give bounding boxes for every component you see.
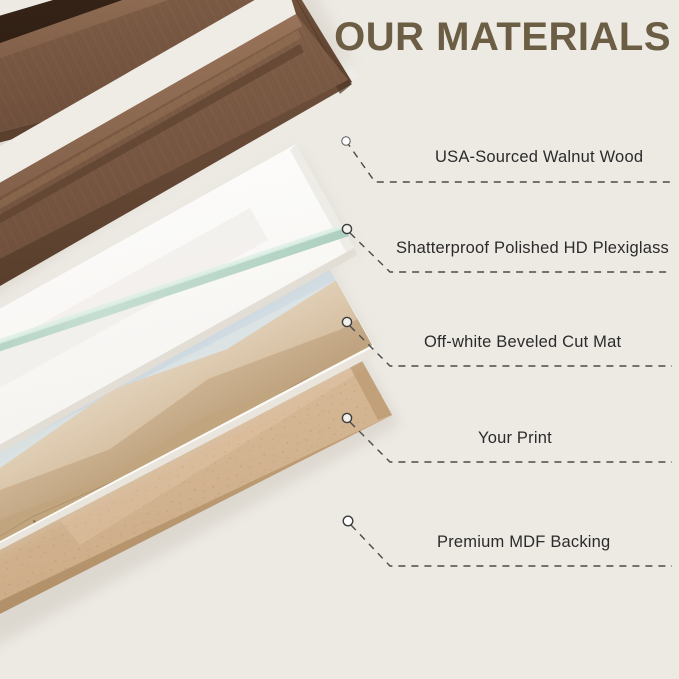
callout-marker-2[interactable] [342, 224, 351, 233]
callout-label-5: Premium MDF Backing [437, 533, 610, 552]
callout-marker-4[interactable] [342, 413, 351, 422]
infographic-canvas: OUR MATERIALS USA-Sourced Walnut Wood [0, 0, 679, 679]
callout-label-3: Off-white Beveled Cut Mat [424, 333, 621, 352]
callout-label-4: Your Print [478, 429, 552, 448]
callout-marker-1[interactable] [342, 137, 350, 145]
callout-label-2: Shatterproof Polished HD Plexiglass [396, 239, 669, 258]
callout-marker-5[interactable] [343, 516, 353, 526]
callout-marker-3[interactable] [342, 317, 351, 326]
callout-label-1: USA-Sourced Walnut Wood [435, 148, 643, 167]
